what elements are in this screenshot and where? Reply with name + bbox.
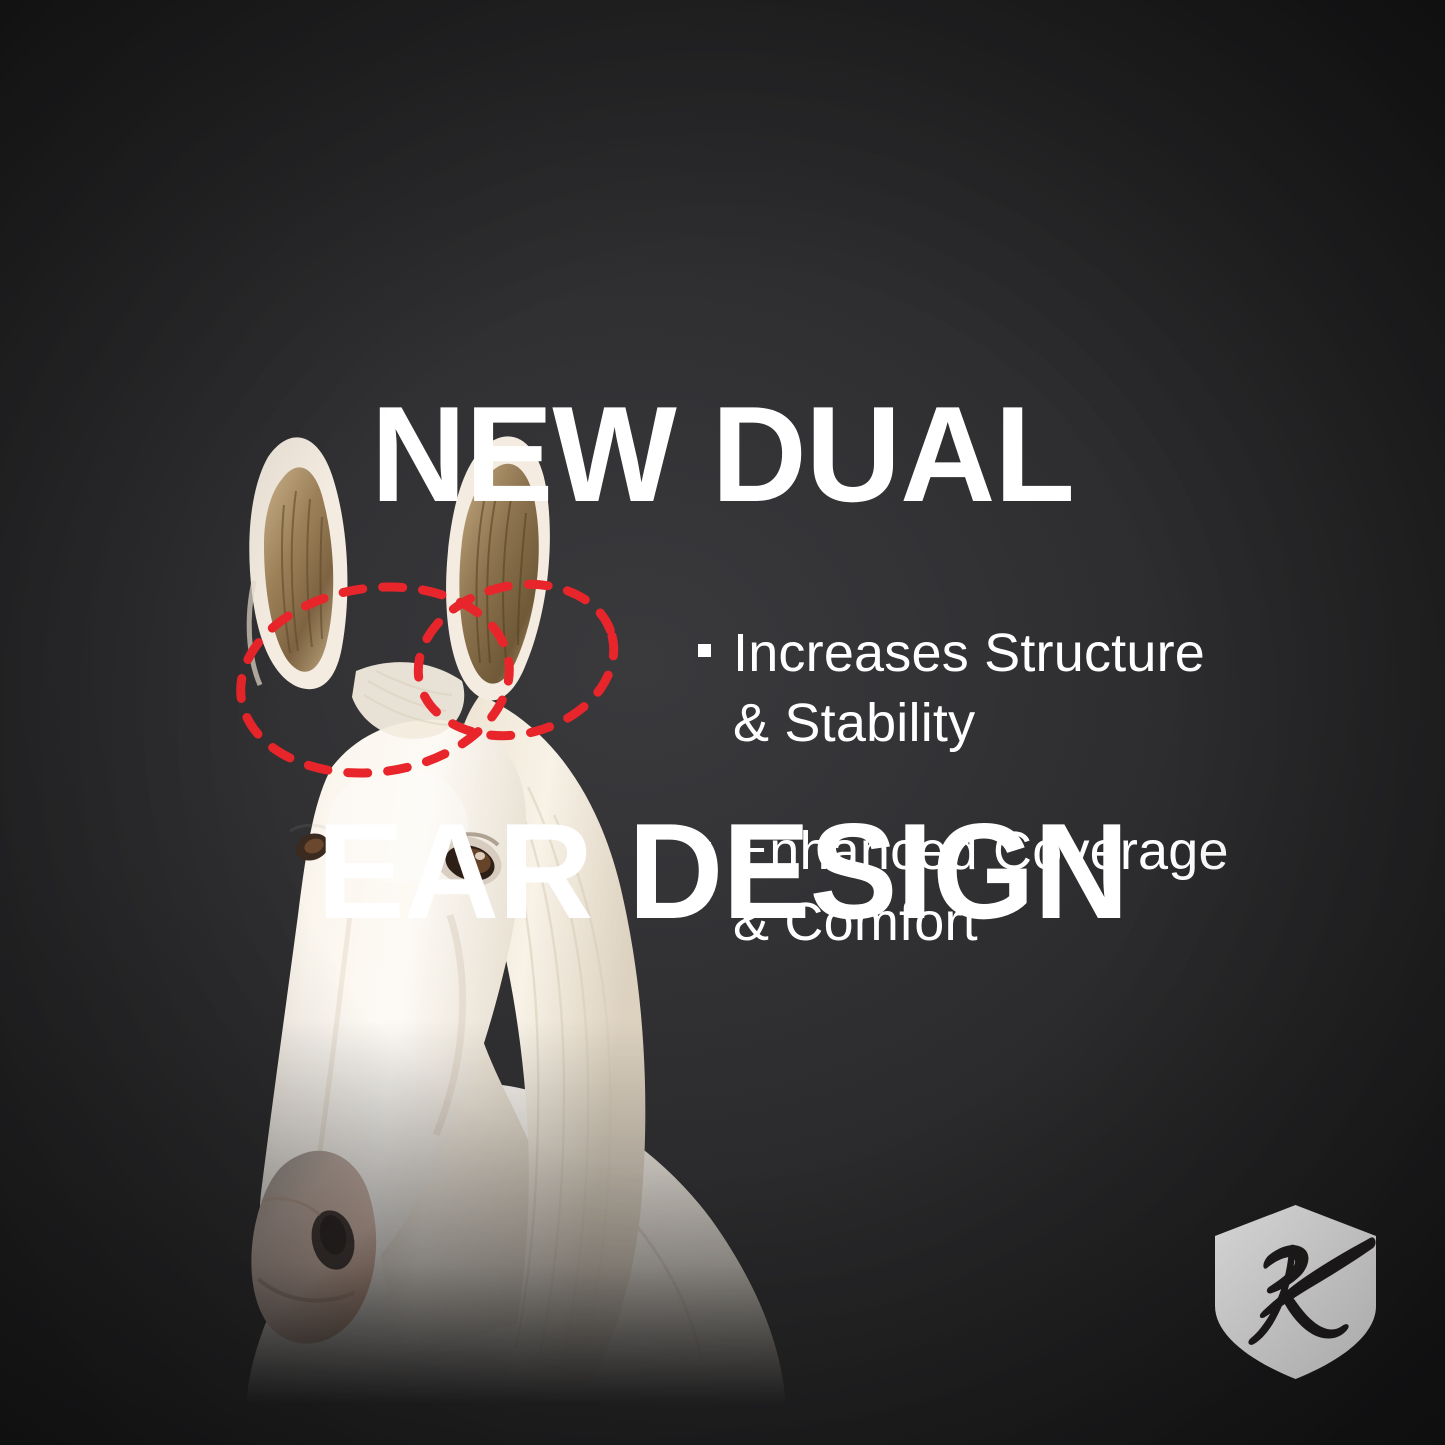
bullet-1-line-2: & Stability [733, 693, 975, 753]
square-bullet-icon [698, 644, 711, 657]
square-bullet-icon [698, 842, 711, 855]
bullet-1-line-1: Increases Structure [733, 623, 1205, 683]
poster-canvas: NEW DUAL EAR DESIGN Increases Structure … [0, 0, 1445, 1445]
bullet-text-1: Increases Structure & Stability [733, 618, 1205, 758]
bullet-2-line-1: Enhanced Coverage [733, 821, 1229, 881]
list-item: Increases Structure & Stability [698, 618, 1358, 758]
headline-line-1: NEW DUAL [22, 385, 1424, 524]
list-item: Enhanced Coverage & Comfort [698, 816, 1358, 956]
bullet-2-line-2: & Comfort [733, 892, 978, 952]
feature-list: Increases Structure & Stability Enhanced… [698, 618, 1358, 1015]
bullet-text-2: Enhanced Coverage & Comfort [733, 816, 1229, 956]
shield-k-logo [1208, 1202, 1383, 1382]
